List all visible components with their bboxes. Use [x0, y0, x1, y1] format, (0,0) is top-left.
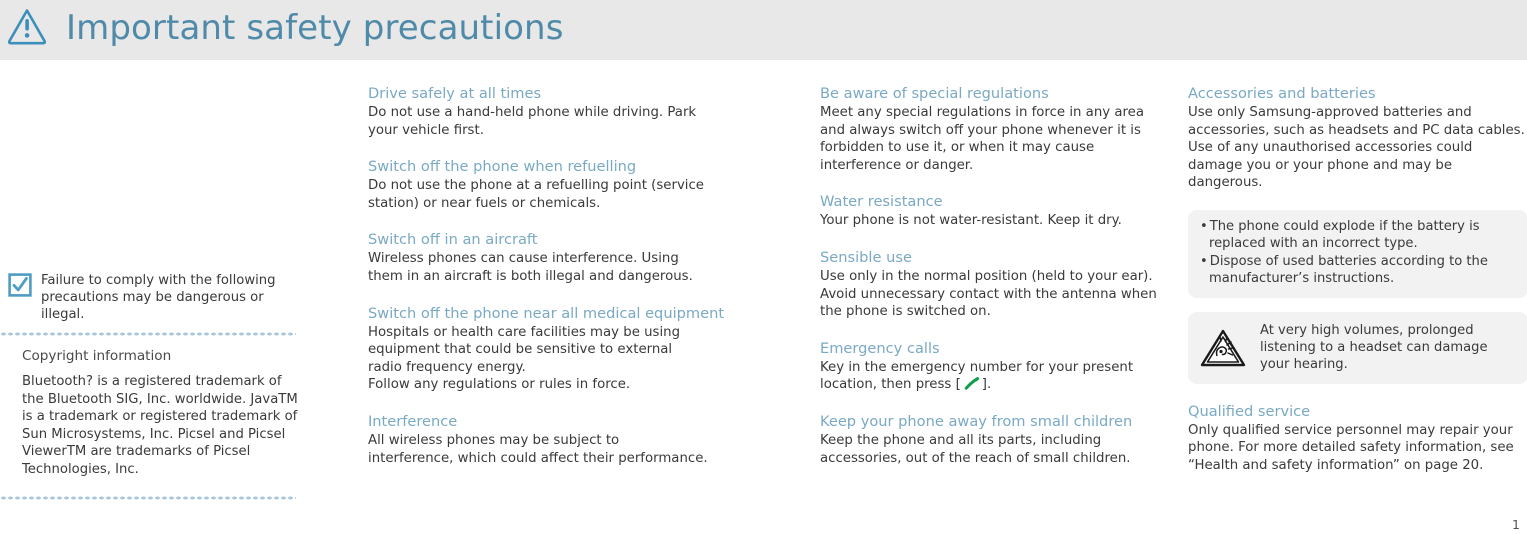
page-title: Important safety precautions [66, 0, 564, 60]
section-switch-off-aircraft: Switch off in an aircraft Wireless phone… [368, 230, 708, 285]
section-body: Meet any special regulations in force in… [820, 104, 1168, 174]
section-body: Wireless phones can cause interference. … [368, 250, 708, 285]
section-body-line: Hospitals or health care facilities may … [368, 324, 708, 377]
section-body: Only qualified service personnel may rep… [1188, 422, 1527, 475]
section-sensible-use: Sensible use Use only in the normal posi… [820, 248, 1168, 321]
column-two: Drive safely at all times Do not use a h… [368, 60, 708, 467]
list-item: Dispose of used batteries according to t… [1200, 253, 1516, 288]
section-body: Use only Samsung-approved batteries and … [1188, 104, 1527, 192]
section-body: Do not use the phone at a refuelling poi… [368, 177, 708, 212]
section-heading: Interference [368, 412, 708, 431]
section-body: Use only in the normal position (held to… [820, 268, 1168, 321]
copyright-body: Bluetooth? is a registered trademark of … [22, 373, 302, 479]
section-heading: Qualified service [1188, 402, 1527, 421]
section-water-resistance: Water resistance Your phone is not water… [820, 192, 1168, 230]
section-away-from-children: Keep your phone away from small children… [820, 412, 1168, 467]
section-body: Your phone is not water-resistant. Keep … [820, 212, 1168, 230]
section-medical-equipment: Switch off the phone near all medical eq… [368, 304, 708, 394]
section-body: Key in the emergency number for your pre… [820, 359, 1168, 394]
section-heading: Drive safely at all times [368, 84, 708, 103]
section-heading: Keep your phone away from small children [820, 412, 1168, 431]
page-body: Failure to comply with the following pre… [0, 60, 1527, 534]
section-heading: Be aware of special regulations [820, 84, 1168, 103]
hearing-warning-text: At very high volumes, prolonged listenin… [1260, 322, 1516, 374]
page-header: Important safety precautions [0, 0, 1527, 60]
section-body-line: Follow any regulations or rules in force… [368, 376, 708, 394]
dotted-divider-bottom [0, 496, 296, 500]
failure-to-comply-notice: Failure to comply with the following pre… [8, 272, 308, 323]
hearing-damage-warning-icon [1200, 328, 1246, 368]
section-body: Hospitals or health care facilities may … [368, 324, 708, 394]
list-item: The phone could explode if the battery i… [1200, 218, 1516, 253]
section-heading: Emergency calls [820, 339, 1168, 358]
warning-triangle-icon [6, 6, 48, 48]
section-qualified-service: Qualified service Only qualified service… [1188, 402, 1527, 475]
section-heading: Switch off the phone when refuelling [368, 157, 708, 176]
section-body-text-after: ]. [982, 377, 991, 392]
notice-text: Failure to comply with the following pre… [41, 272, 308, 323]
column-four: Accessories and batteries Use only Samsu… [1188, 60, 1527, 475]
section-drive-safely: Drive safely at all times Do not use a h… [368, 84, 708, 139]
section-emergency-calls: Emergency calls Key in the emergency num… [820, 339, 1168, 394]
page-number: 1 [1512, 517, 1520, 532]
battery-warning-list: The phone could explode if the battery i… [1200, 218, 1516, 288]
section-body: Keep the phone and all its parts, includ… [820, 432, 1168, 467]
section-heading: Switch off in an aircraft [368, 230, 708, 249]
section-interference: Interference All wireless phones may be … [368, 412, 708, 467]
call-send-key-icon [963, 377, 980, 390]
section-accessories-batteries: Accessories and batteries Use only Samsu… [1188, 84, 1527, 192]
section-body: Do not use a hand-held phone while drivi… [368, 104, 708, 139]
hearing-warning-callout: At very high volumes, prolonged listenin… [1188, 312, 1527, 384]
section-switch-off-refuelling: Switch off the phone when refuelling Do … [368, 157, 708, 212]
section-heading: Switch off the phone near all medical eq… [368, 304, 708, 323]
column-three: Be aware of special regulations Meet any… [820, 60, 1168, 467]
section-heading: Water resistance [820, 192, 1168, 211]
section-heading: Sensible use [820, 248, 1168, 267]
copyright-heading: Copyright information [22, 348, 171, 364]
battery-warning-callout: The phone could explode if the battery i… [1188, 210, 1527, 298]
section-heading: Accessories and batteries [1188, 84, 1527, 103]
checkbox-checked-icon [8, 273, 32, 297]
section-special-regulations: Be aware of special regulations Meet any… [820, 84, 1168, 174]
section-body: All wireless phones may be subject to in… [368, 432, 708, 467]
dotted-divider-top [0, 332, 296, 336]
